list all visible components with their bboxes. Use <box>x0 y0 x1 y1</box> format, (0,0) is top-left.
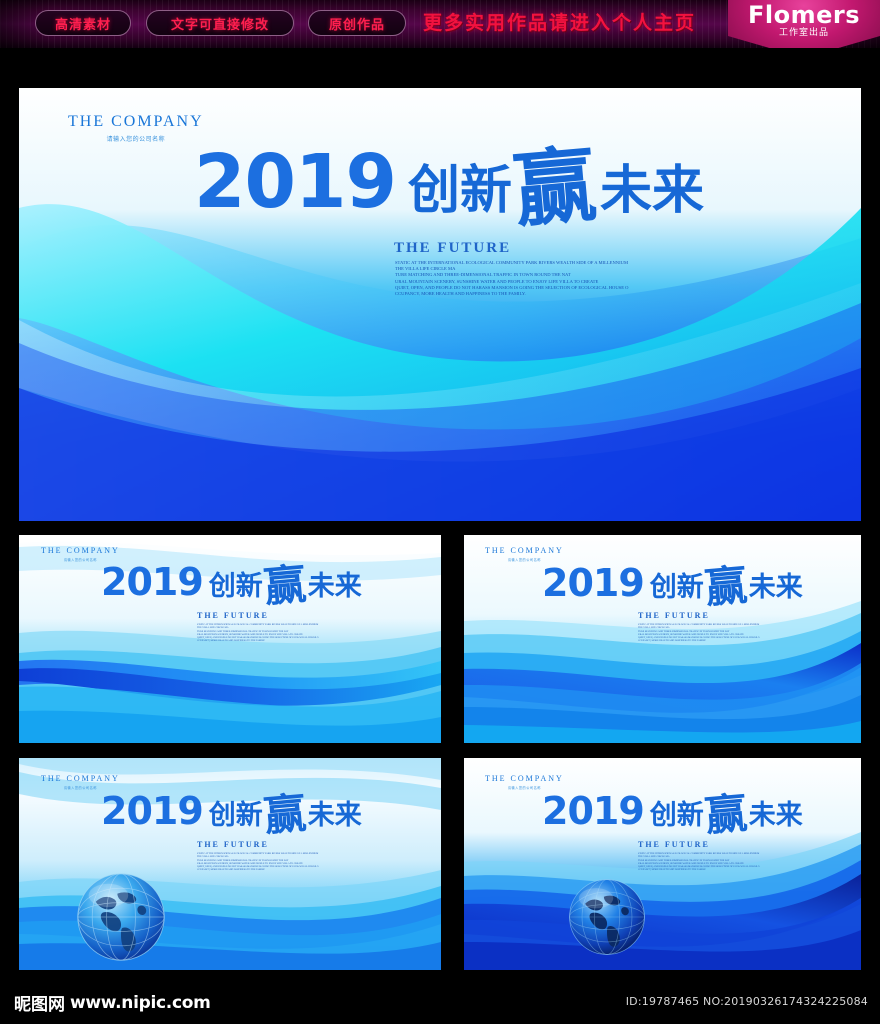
site-branding[interactable]: 昵图网 www.nipic.com <box>14 990 211 1015</box>
headline-win: 赢 <box>262 797 307 834</box>
poster-thumb-2-bodytext: STATIC AT THE INTERNATIONAL ECOLOGICAL C… <box>638 623 760 643</box>
headline-innovate: 创新 <box>209 803 263 829</box>
headline-future: 未来 <box>749 575 803 601</box>
brand-title: THE COMPANY <box>41 546 120 555</box>
headline-innovate: 创新 <box>650 803 704 829</box>
brand-subtitle: 请输入您的公司名称 <box>68 134 204 143</box>
promo-headline: 更多实用作品请进入个人主页 <box>423 8 696 35</box>
promo-tag-editable-text[interactable]: 文字可直接修改 <box>146 10 294 36</box>
headline-year: 2019 <box>194 148 396 216</box>
headline-year: 2019 <box>101 794 203 829</box>
brand-title: THE COMPANY <box>485 546 564 555</box>
promo-banner: 高清素材 文字可直接修改 原创作品 更多实用作品请进入个人主页 Flomers … <box>0 0 880 48</box>
poster-thumb-4-bodytext: STATIC AT THE INTERNATIONAL ECOLOGICAL C… <box>638 852 760 872</box>
globe-graphic <box>568 878 646 956</box>
poster-thumb-3-subtitle: THE FUTURE <box>197 840 269 849</box>
studio-logo-badge[interactable]: Flomers 工作室出品 <box>728 0 880 48</box>
poster-thumb-4[interactable]: THE COMPANY 请输入您的公司名称 2019 创新 赢 未来 THE F… <box>464 758 861 970</box>
headline-win: 赢 <box>703 569 748 606</box>
headline-win: 赢 <box>511 153 598 225</box>
site-url[interactable]: www.nipic.com <box>70 993 211 1013</box>
bodytext-line: CCUPANCY, MORE HEALTH AND HAPPINESS TO T… <box>638 639 760 642</box>
bodytext-line: CCUPANCY, MORE HEALTH AND HAPPINESS TO T… <box>395 291 628 297</box>
poster-thumb-3-bodytext: STATIC AT THE INTERNATIONAL ECOLOGICAL C… <box>197 852 319 872</box>
bodytext-line: CCUPANCY, MORE HEALTH AND HAPPINESS TO T… <box>197 639 319 642</box>
poster-thumb-3-brand: THE COMPANY 请输入您的公司名称 <box>41 774 120 790</box>
headline-year: 2019 <box>101 565 203 600</box>
poster-thumb-2[interactable]: THE COMPANY 请输入您的公司名称 2019 创新 赢 未来 THE F… <box>464 535 861 743</box>
poster-thumb-1[interactable]: THE COMPANY 请输入您的公司名称 2019 创新 赢 未来 THE F… <box>19 535 441 743</box>
promo-banner-inner: 高清素材 文字可直接修改 原创作品 更多实用作品请进入个人主页 Flomers … <box>0 0 880 48</box>
headline-future: 未来 <box>749 803 803 829</box>
headline-year: 2019 <box>542 794 644 829</box>
brand-title: THE COMPANY <box>485 774 564 783</box>
headline-win: 赢 <box>262 568 307 605</box>
site-footer: 昵图网 www.nipic.com ID:19787465 NO:2019032… <box>0 980 880 1024</box>
bodytext-line: CCUPANCY, MORE HEALTH AND HAPPINESS TO T… <box>638 868 760 871</box>
poster-thumb-1-subtitle: THE FUTURE <box>197 611 269 620</box>
poster-thumb-4-subtitle: THE FUTURE <box>638 840 710 849</box>
headline-future: 未来 <box>600 167 704 216</box>
headline-year: 2019 <box>542 566 644 601</box>
headline-future: 未来 <box>308 803 362 829</box>
headline-innovate: 创新 <box>209 574 263 600</box>
poster-main-headline: 2019 创新 赢 未来 <box>194 148 704 216</box>
poster-thumb-4-headline: 2019 创新 赢 未来 <box>542 794 803 829</box>
headline-future: 未来 <box>308 574 362 600</box>
site-logo-cn: 昵图网 <box>14 990 65 1015</box>
globe-icon <box>568 878 646 956</box>
promo-tag-original-work[interactable]: 原创作品 <box>308 10 406 36</box>
poster-thumb-2-brand: THE COMPANY 请输入您的公司名称 <box>485 546 564 562</box>
poster-thumb-1-bodytext: STATIC AT THE INTERNATIONAL ECOLOGICAL C… <box>197 623 319 643</box>
studio-brand-name: Flomers <box>748 2 860 28</box>
globe-icon <box>76 872 166 962</box>
poster-thumb-2-headline: 2019 创新 赢 未来 <box>542 566 803 601</box>
poster-main-brand: THE COMPANY 请输入您的公司名称 <box>68 113 204 143</box>
headline-win: 赢 <box>703 797 748 834</box>
poster-thumb-3-headline: 2019 创新 赢 未来 <box>101 794 362 829</box>
poster-main-subtitle: THE FUTURE <box>394 240 511 257</box>
bodytext-line: CCUPANCY, MORE HEALTH AND HAPPINESS TO T… <box>197 868 319 871</box>
brand-title: THE COMPANY <box>41 774 120 783</box>
asset-id-label: ID:19787465 NO:20190326174324225084 <box>626 995 868 1008</box>
poster-main[interactable]: THE COMPANY 请输入您的公司名称 2019 创新 赢 未来 THE F… <box>19 88 861 521</box>
headline-innovate: 创新 <box>408 167 512 216</box>
brand-title: THE COMPANY <box>68 113 204 131</box>
poster-thumb-1-headline: 2019 创新 赢 未来 <box>101 565 362 600</box>
poster-thumb-2-subtitle: THE FUTURE <box>638 611 710 620</box>
poster-thumb-4-brand: THE COMPANY 请输入您的公司名称 <box>485 774 564 790</box>
poster-thumb-3[interactable]: THE COMPANY 请输入您的公司名称 2019 创新 赢 未来 THE F… <box>19 758 441 970</box>
bodytext-line: URAL MOUNTAIN SCENERY, SUNSHINE WATER AN… <box>395 279 628 285</box>
headline-innovate: 创新 <box>650 575 704 601</box>
poster-main-bodytext: STATIC AT THE INTERNATIONAL ECOLOGICAL C… <box>395 260 628 297</box>
studio-brand-sub: 工作室出品 <box>779 28 829 39</box>
promo-tag-hd-material[interactable]: 高清素材 <box>35 10 131 36</box>
globe-graphic <box>76 872 166 962</box>
